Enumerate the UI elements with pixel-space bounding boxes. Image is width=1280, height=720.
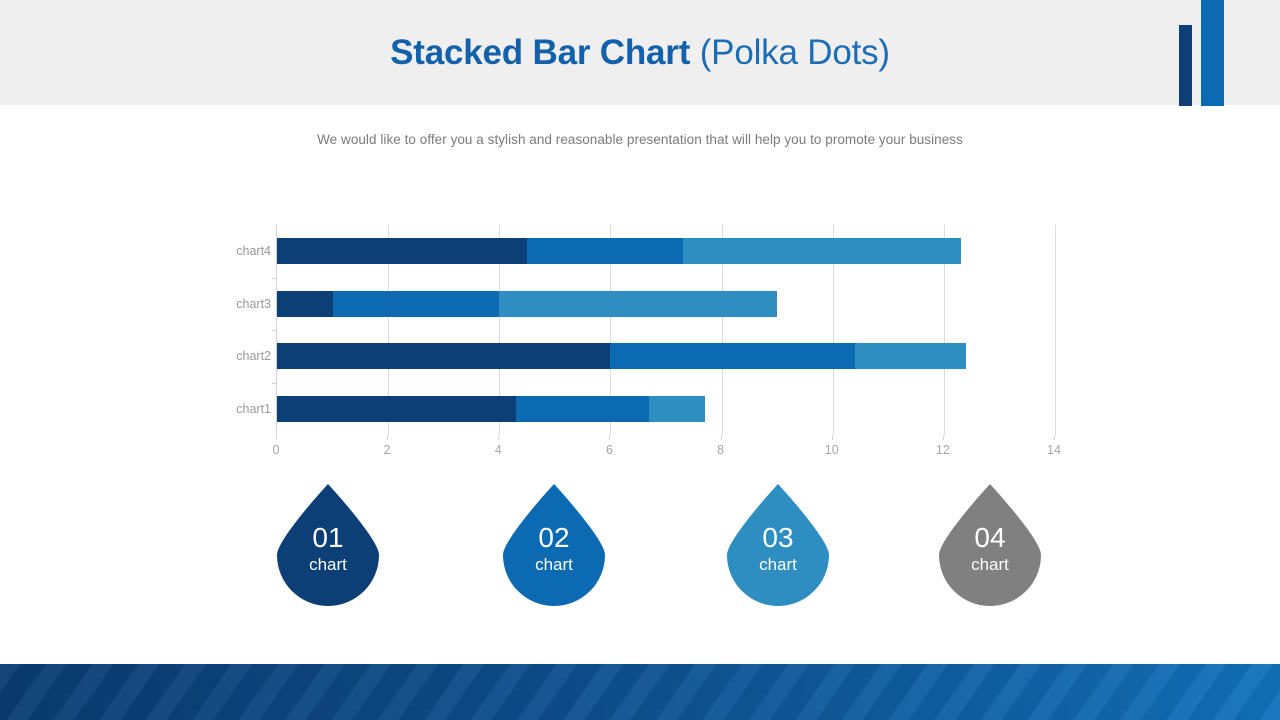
x-axis-tick bbox=[498, 435, 499, 440]
bar-segment-chart4-s1[interactable] bbox=[277, 238, 527, 264]
bar-chart4[interactable] bbox=[277, 238, 1055, 264]
bar-segment-chart1-s1[interactable] bbox=[277, 396, 516, 422]
y-axis-label-chart4: chart4 bbox=[205, 244, 271, 258]
x-axis-label: 6 bbox=[606, 443, 613, 457]
x-axis-tick bbox=[276, 435, 277, 440]
page-title-bold: Stacked Bar Chart bbox=[390, 33, 690, 72]
y-axis-tick bbox=[272, 383, 277, 384]
droplet-labels: 01chart bbox=[277, 522, 379, 576]
x-axis-label: 4 bbox=[495, 443, 502, 457]
bar-segment-chart1-s2[interactable] bbox=[516, 396, 649, 422]
x-axis-tick bbox=[609, 435, 610, 440]
slide: Stacked Bar Chart (Polka Dots) We would … bbox=[0, 0, 1280, 720]
y-axis-label-chart3: chart3 bbox=[205, 297, 271, 311]
bar-chart2[interactable] bbox=[277, 343, 1055, 369]
x-axis-tick bbox=[943, 435, 944, 440]
bar-segment-chart1-s3[interactable] bbox=[649, 396, 705, 422]
droplet-number: 02 bbox=[503, 522, 605, 554]
bar-segment-chart3-s3[interactable] bbox=[499, 291, 777, 317]
droplet-labels: 03chart bbox=[727, 522, 829, 576]
x-axis-tick bbox=[721, 435, 722, 440]
subtitle: We would like to offer you a stylish and… bbox=[0, 132, 1280, 147]
droplet-labels: 02chart bbox=[503, 522, 605, 576]
bar-chart3[interactable] bbox=[277, 291, 1055, 317]
page-title-light: (Polka Dots) bbox=[700, 33, 890, 72]
droplet-number: 04 bbox=[939, 522, 1041, 554]
x-axis-label: 12 bbox=[936, 443, 950, 457]
gridline bbox=[1055, 225, 1056, 435]
stacked-bar-chart: chart4chart3chart2chart1 02468101214 bbox=[205, 225, 1065, 465]
page-title: Stacked Bar Chart (Polka Dots) bbox=[0, 30, 1280, 76]
droplet-03[interactable]: 03chart bbox=[727, 484, 829, 606]
bar-segment-chart4-s3[interactable] bbox=[683, 238, 961, 264]
x-axis-label: 0 bbox=[273, 443, 280, 457]
plot-area bbox=[276, 225, 1054, 435]
droplet-caption: chart bbox=[503, 554, 605, 576]
y-axis-tick bbox=[272, 330, 277, 331]
droplet-caption: chart bbox=[727, 554, 829, 576]
x-axis: 02468101214 bbox=[276, 435, 1054, 436]
droplet-caption: chart bbox=[939, 554, 1041, 576]
droplet-04[interactable]: 04chart bbox=[939, 484, 1041, 606]
droplet-row: 01chart02chart03chart04chart bbox=[0, 484, 1280, 624]
x-axis-label: 10 bbox=[825, 443, 839, 457]
x-axis-label: 2 bbox=[384, 443, 391, 457]
x-axis-label: 8 bbox=[717, 443, 724, 457]
y-axis-tick bbox=[272, 278, 277, 279]
footer-band bbox=[0, 664, 1280, 720]
decoration-bar-blue bbox=[1201, 0, 1224, 106]
x-axis-tick bbox=[1054, 435, 1055, 440]
decoration-bar-dark bbox=[1179, 25, 1192, 106]
header-decoration bbox=[1160, 0, 1280, 106]
droplet-labels: 04chart bbox=[939, 522, 1041, 576]
droplet-number: 03 bbox=[727, 522, 829, 554]
droplet-01[interactable]: 01chart bbox=[277, 484, 379, 606]
x-axis-label: 14 bbox=[1047, 443, 1061, 457]
droplet-caption: chart bbox=[277, 554, 379, 576]
bar-segment-chart2-s2[interactable] bbox=[610, 343, 855, 369]
bar-segment-chart3-s2[interactable] bbox=[333, 291, 500, 317]
y-axis-labels: chart4chart3chart2chart1 bbox=[205, 225, 271, 435]
bar-segment-chart2-s3[interactable] bbox=[855, 343, 966, 369]
y-axis-label-chart2: chart2 bbox=[205, 349, 271, 363]
droplet-number: 01 bbox=[277, 522, 379, 554]
y-axis-label-chart1: chart1 bbox=[205, 402, 271, 416]
bar-chart1[interactable] bbox=[277, 396, 1055, 422]
x-axis-tick bbox=[387, 435, 388, 440]
bar-segment-chart3-s1[interactable] bbox=[277, 291, 333, 317]
bar-segment-chart2-s1[interactable] bbox=[277, 343, 610, 369]
droplet-02[interactable]: 02chart bbox=[503, 484, 605, 606]
x-axis-tick bbox=[832, 435, 833, 440]
bar-segment-chart4-s2[interactable] bbox=[527, 238, 683, 264]
